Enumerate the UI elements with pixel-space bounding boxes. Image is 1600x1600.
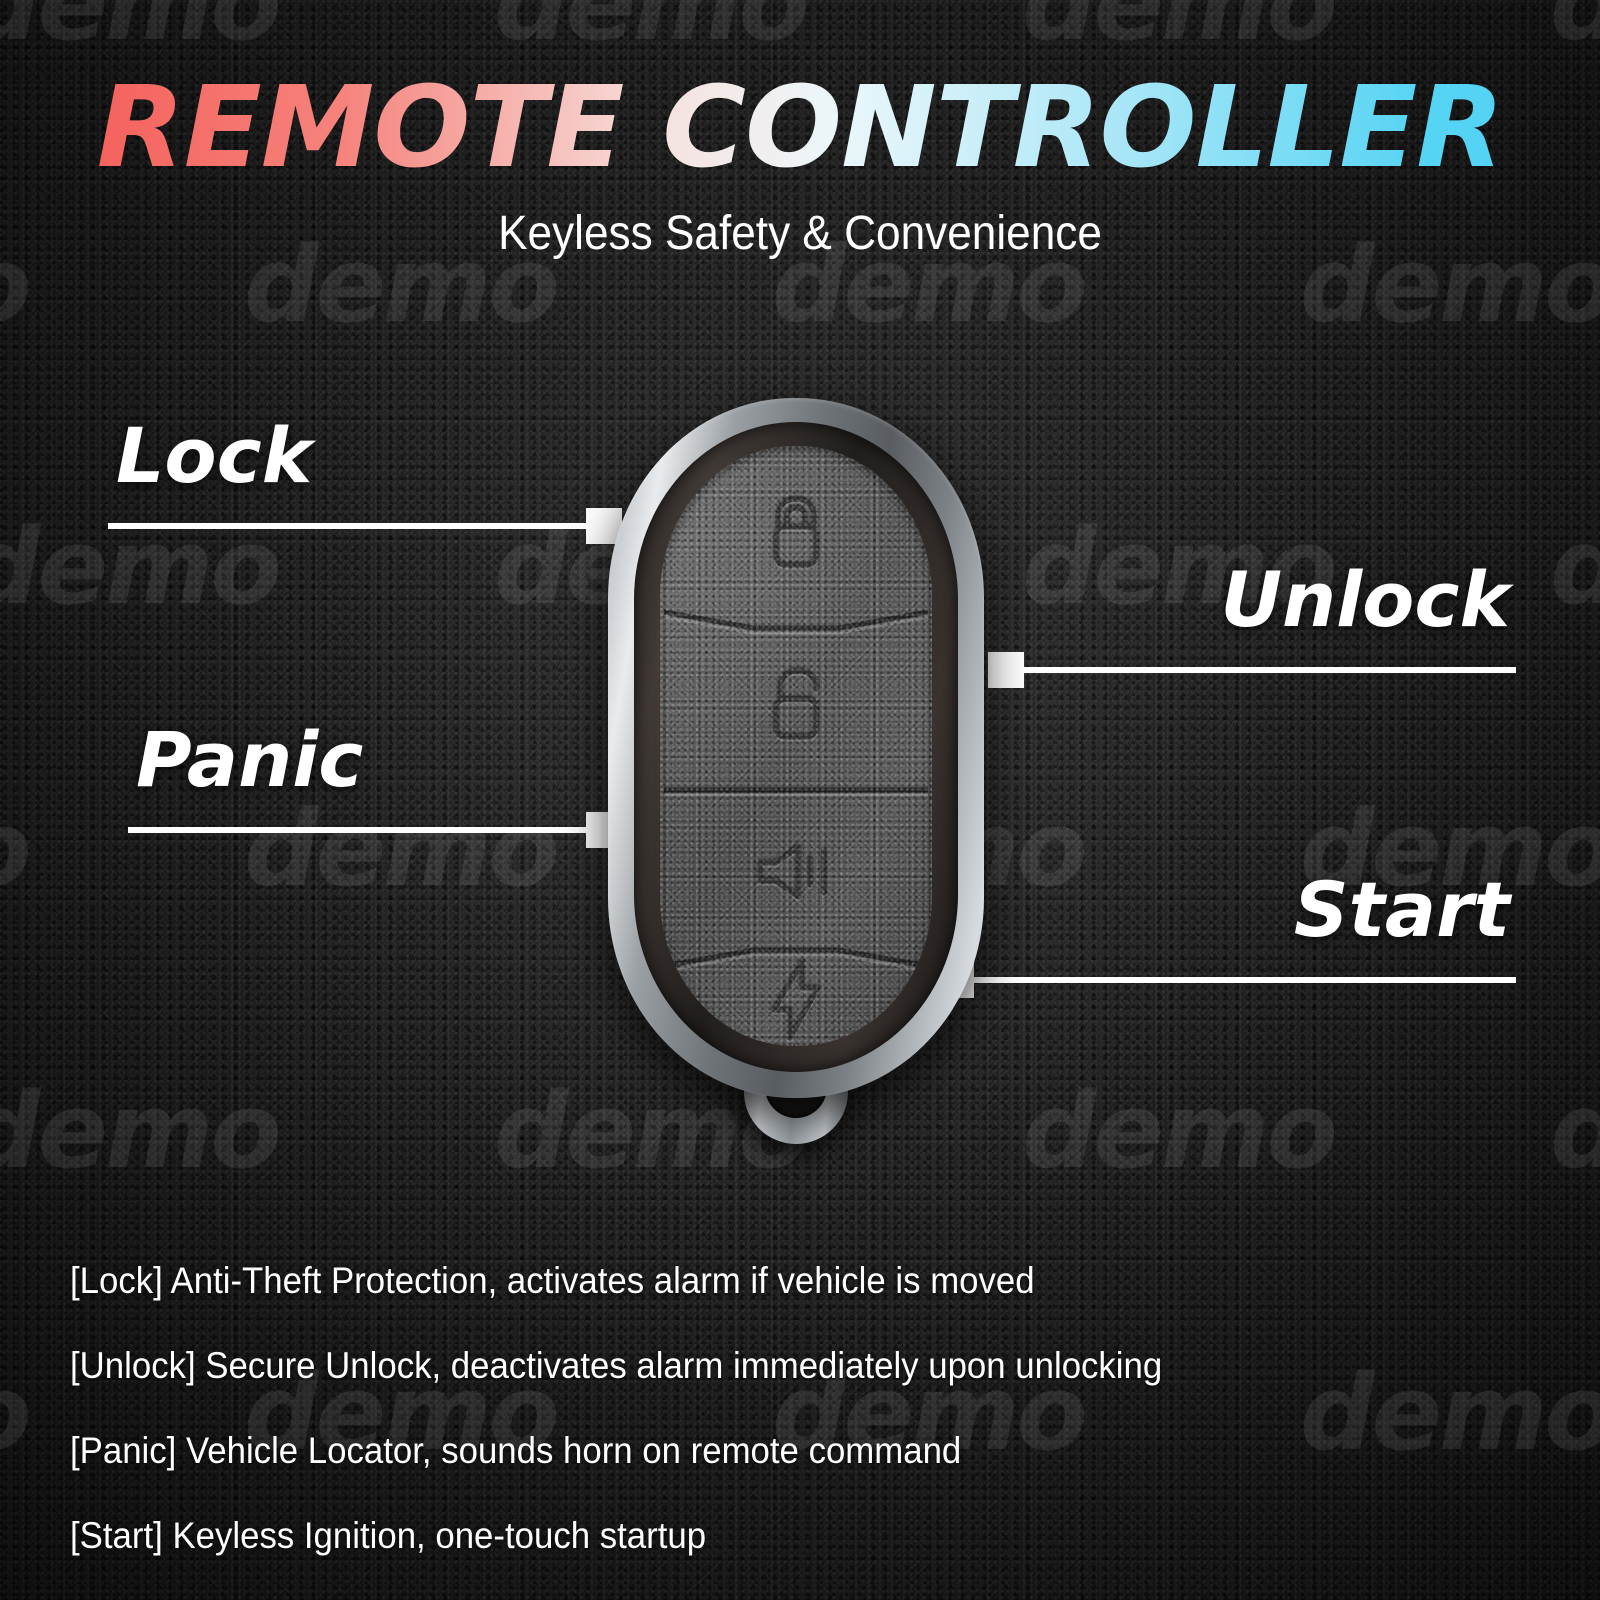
fob-button-plate (660, 446, 932, 1046)
description-line: [Panic] Vehicle Locator, sounds horn on … (70, 1432, 1461, 1469)
leader-bar-start (974, 977, 1516, 983)
callout-lock: Lock (108, 418, 622, 544)
callout-label-lock: Lock (108, 418, 622, 494)
leader-line-panic (128, 812, 622, 848)
page-subtitle: Keyless Safety & Convenience (64, 206, 1536, 261)
leader-bar-unlock (1024, 667, 1516, 673)
description-line: [Unlock] Secure Unlock, deactivates alar… (70, 1347, 1461, 1384)
leader-bar-panic (128, 827, 586, 833)
description-line: [Lock] Anti-Theft Protection, activates … (70, 1262, 1461, 1299)
horn-siren-icon (750, 839, 842, 910)
header: REMOTE CONTROLLER Keyless Safety & Conve… (0, 0, 1600, 261)
leader-bar-lock (108, 523, 586, 529)
leader-marker-unlock (988, 652, 1024, 688)
car-key-fob (608, 398, 984, 1098)
padlock-closed-icon (765, 493, 827, 576)
callout-label-start: Start (938, 872, 1516, 948)
description-line: [Start] Keyless Ignition, one-touch star… (70, 1517, 1461, 1554)
fob-button-start[interactable] (660, 958, 932, 1046)
leader-line-lock (108, 508, 622, 544)
fob-button-unlock[interactable] (660, 622, 932, 790)
callout-start: Start (938, 872, 1516, 998)
leader-line-start (938, 962, 1516, 998)
callout-unlock: Unlock (988, 562, 1516, 688)
callout-label-panic: Panic (128, 722, 622, 798)
padlock-open-icon (762, 665, 830, 748)
callout-label-unlock: Unlock (988, 562, 1516, 638)
page-title: REMOTE CONTROLLER (0, 72, 1600, 184)
fob-button-panic[interactable] (660, 790, 932, 958)
fob-button-lock[interactable] (660, 446, 932, 622)
callout-panic: Panic (128, 722, 622, 848)
lightning-bolt-icon (768, 958, 824, 1047)
leader-line-unlock (988, 652, 1516, 688)
description-block: [Lock] Anti-Theft Protection, activates … (70, 1262, 1550, 1600)
